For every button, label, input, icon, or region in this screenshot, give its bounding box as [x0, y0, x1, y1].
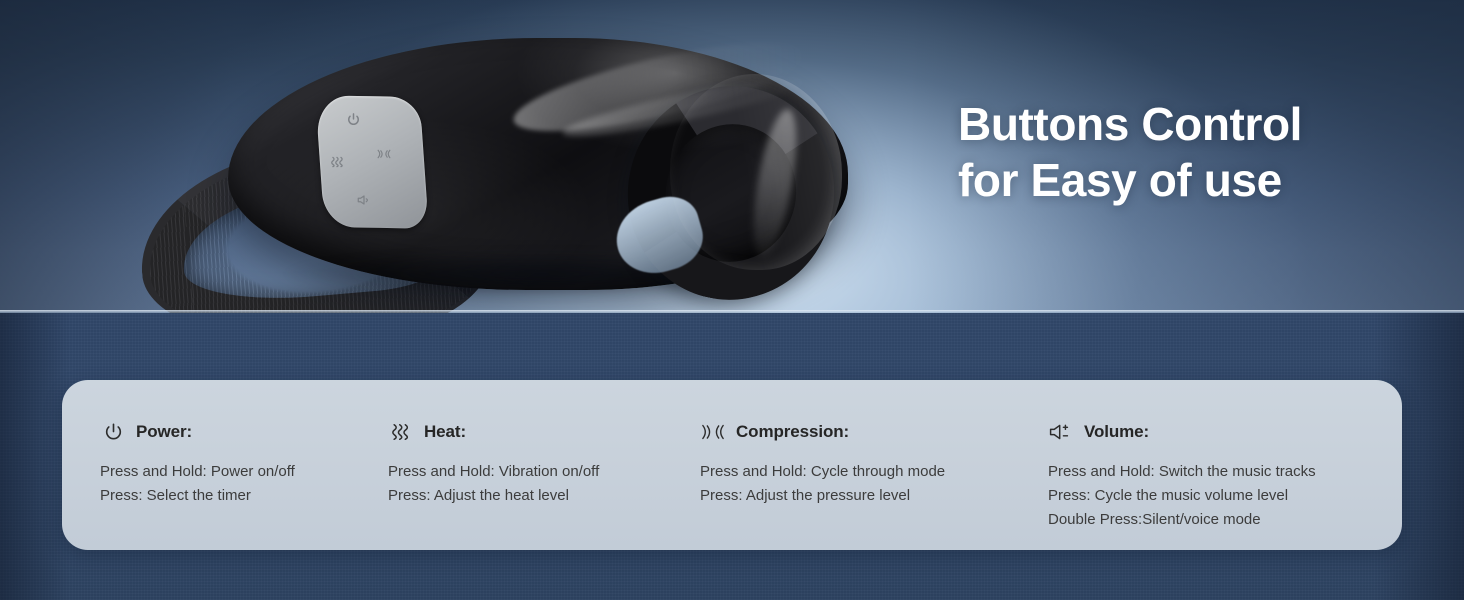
headline-line-2: for Easy of use — [958, 152, 1302, 208]
device-power-icon — [346, 112, 361, 127]
column-header: Compression: — [700, 418, 1040, 446]
instruction-line: Double Press:Silent/voice mode — [1048, 508, 1388, 532]
button-instructions-panel: Power: Press and Hold: Power on/off Pres… — [62, 380, 1402, 550]
instruction-line: Press: Adjust the heat level — [388, 484, 698, 508]
instruction-line: Press and Hold: Switch the music tracks — [1048, 460, 1388, 484]
section-title: Volume: — [1084, 422, 1149, 442]
section-title: Power: — [136, 422, 192, 442]
column-header: Power: — [100, 418, 400, 446]
product-feature-banner: Buttons Control for Easy of use Power: P… — [0, 0, 1464, 600]
page-title: Buttons Control for Easy of use — [958, 96, 1302, 208]
headline-line-1: Buttons Control — [958, 96, 1302, 152]
heat-icon — [388, 419, 414, 445]
instruction-column-volume: Volume: Press and Hold: Switch the music… — [1048, 418, 1388, 532]
section-title: Heat: — [424, 422, 466, 442]
device-volume-icon — [356, 194, 372, 206]
device-heat-icon — [330, 156, 345, 168]
instruction-column-compression: Compression: Press and Hold: Cycle throu… — [700, 418, 1040, 508]
column-header: Volume: — [1048, 418, 1388, 446]
instruction-line: Press: Adjust the pressure level — [700, 484, 1040, 508]
instruction-line: Press and Hold: Cycle through mode — [700, 460, 1040, 484]
instruction-line: Press: Cycle the music volume level — [1048, 484, 1388, 508]
section-title: Compression: — [736, 422, 849, 442]
instruction-line: Press and Hold: Vibration on/off — [388, 460, 698, 484]
instruction-column-power: Power: Press and Hold: Power on/off Pres… — [100, 418, 400, 508]
power-icon — [100, 419, 126, 445]
product-image-eye-massager — [130, 28, 870, 313]
device-compression-icon — [376, 148, 392, 160]
instruction-line: Press and Hold: Power on/off — [100, 460, 400, 484]
volume-icon — [1048, 419, 1074, 445]
compression-icon — [700, 419, 726, 445]
lower-left-vignette — [0, 313, 70, 600]
instruction-line: Press: Select the timer — [100, 484, 400, 508]
column-header: Heat: — [388, 418, 698, 446]
device-rim-light — [670, 74, 842, 270]
instruction-column-heat: Heat: Press and Hold: Vibration on/off P… — [388, 418, 698, 508]
